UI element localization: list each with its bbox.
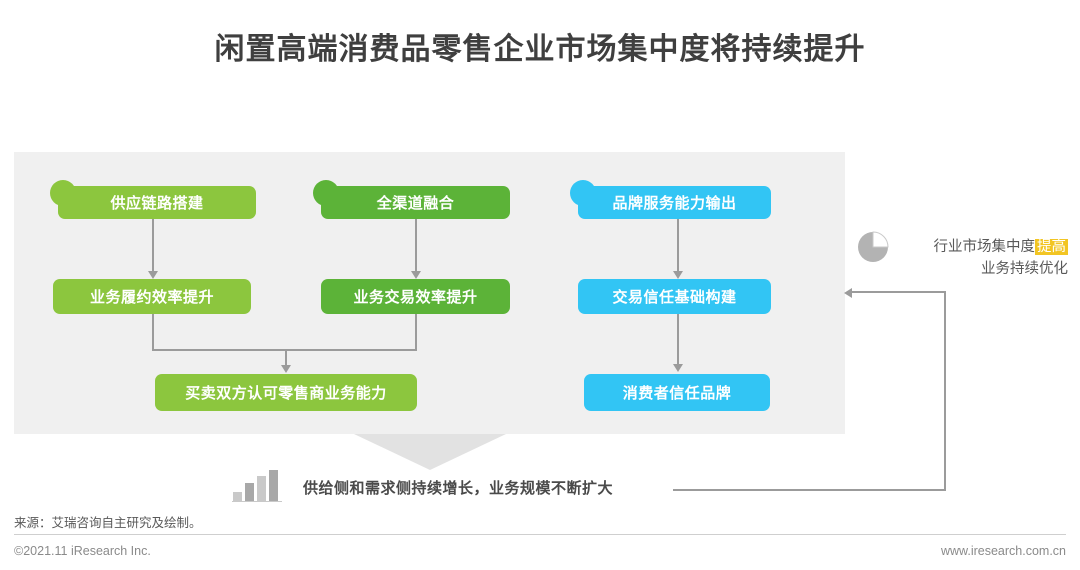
source-note: 来源：艾瑞咨询自主研究及绘制。 bbox=[14, 512, 202, 531]
flow-node-mutual-recognition[interactable]: 买卖双方认可零售商业务能力 bbox=[155, 374, 417, 411]
pie-chart-icon bbox=[856, 230, 890, 269]
merge-line-left bbox=[152, 314, 154, 350]
connector-line bbox=[677, 219, 679, 273]
feedback-line-right bbox=[944, 291, 946, 491]
flow-node-omnichannel[interactable]: 全渠道融合 bbox=[321, 186, 510, 219]
page-title: 闲置高端消费品零售企业市场集中度将持续提升 bbox=[0, 24, 1080, 68]
annotation-text: 行业市场集中度提高 业务持续优化 bbox=[898, 236, 1068, 280]
flow-node-fulfillment-efficiency[interactable]: 业务履约效率提升 bbox=[53, 279, 251, 314]
connector-arrowhead bbox=[673, 271, 683, 279]
bar-chart-icon bbox=[232, 470, 286, 507]
flow-node-consumer-trust[interactable]: 消费者信任品牌 bbox=[584, 374, 770, 411]
feedback-arrowhead bbox=[844, 288, 852, 298]
connector-arrowhead bbox=[148, 271, 158, 279]
feedback-line-top bbox=[852, 291, 946, 293]
feedback-line-bottom bbox=[673, 489, 946, 491]
annotation-highlight: 提高 bbox=[1035, 239, 1068, 255]
down-arrow-shape bbox=[354, 434, 506, 470]
connector-line bbox=[152, 219, 154, 273]
connector-arrowhead bbox=[411, 271, 421, 279]
flow-node-supply-chain[interactable]: 供应链路搭建 bbox=[58, 186, 256, 219]
flow-node-trust-foundation[interactable]: 交易信任基础构建 bbox=[578, 279, 771, 314]
merge-line-right bbox=[415, 314, 417, 350]
connector-line bbox=[415, 219, 417, 273]
connector-arrowhead bbox=[673, 364, 683, 372]
connector-line bbox=[677, 314, 679, 366]
copyright-text: ©2021.11 iResearch Inc. bbox=[14, 544, 151, 558]
bottom-caption: 供给侧和需求侧持续增长，业务规模不断扩大 bbox=[303, 477, 613, 498]
annotation-line-1: 行业市场集中度提高 bbox=[898, 236, 1068, 258]
annotation-line-2: 业务持续优化 bbox=[898, 258, 1068, 280]
footer-divider bbox=[14, 534, 1066, 535]
annotation-line1-prefix: 行业市场集中度 bbox=[934, 239, 1036, 255]
website-link[interactable]: www.iresearch.com.cn bbox=[941, 544, 1066, 558]
slide-root: 闲置高端消费品零售企业市场集中度将持续提升 1 供应链路搭建 业务履约效率提升 … bbox=[0, 0, 1080, 570]
merge-arrowhead bbox=[281, 365, 291, 373]
flow-node-transaction-efficiency[interactable]: 业务交易效率提升 bbox=[321, 279, 510, 314]
flow-node-brand-service[interactable]: 品牌服务能力输出 bbox=[578, 186, 771, 219]
